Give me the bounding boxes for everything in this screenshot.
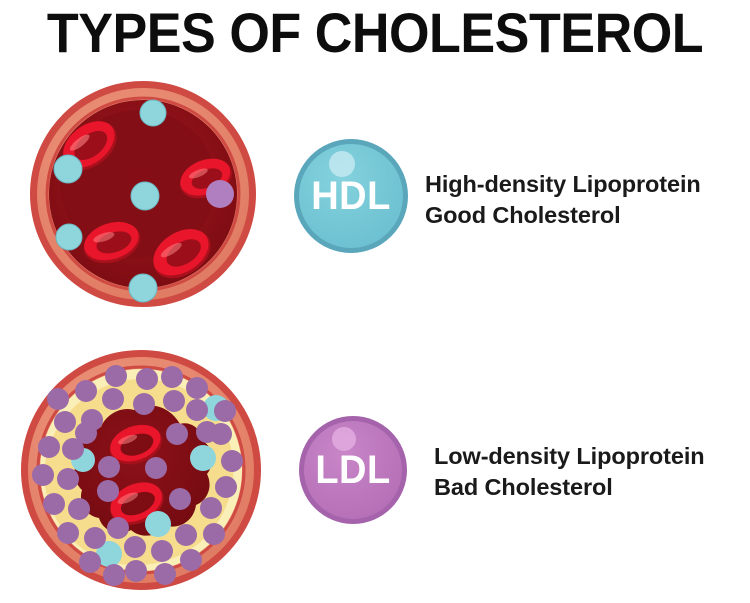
ldl-particle [145, 457, 167, 479]
ldl-particle [166, 423, 188, 445]
ldl-particle [125, 560, 147, 582]
ldl-particle [136, 368, 158, 390]
ldl-particle [54, 411, 76, 433]
hdl-particle [56, 224, 82, 250]
cholesterol-infographic: TYPES OF CHOLESTEROL [0, 0, 750, 603]
ldl-particle [200, 497, 222, 519]
ldl-particle [206, 180, 234, 208]
hdl-particle [54, 155, 82, 183]
ldl-badge-highlight [332, 427, 356, 451]
healthy-artery-cross-section [14, 80, 272, 310]
hdl-badge-highlight [329, 151, 355, 177]
ldl-particle [203, 523, 225, 545]
ldl-particle [161, 366, 183, 388]
hdl-legend-text: High-density Lipoprotein Good Cholestero… [425, 169, 701, 231]
hdl-legend-line-2: Good Cholesterol [425, 200, 701, 231]
hdl-particle [131, 182, 159, 210]
hdl-legend-line-1: High-density Lipoprotein [425, 169, 701, 200]
ldl-particle [43, 493, 65, 515]
ldl-particle [57, 468, 79, 490]
ldl-particle [68, 498, 90, 520]
ldl-particle [169, 488, 191, 510]
ldl-particle [75, 380, 97, 402]
ldl-particle [57, 522, 79, 544]
ldl-particle [215, 476, 237, 498]
ldl-particle [186, 377, 208, 399]
ldl-particle [221, 450, 243, 472]
ldl-particle [154, 563, 176, 585]
page-title: TYPES OF CHOLESTEROL [26, 4, 724, 62]
ldl-particle [79, 551, 101, 573]
ldl-particle [163, 390, 185, 412]
ldl-particle [103, 564, 125, 586]
ldl-legend-text: Low-density Lipoprotein Bad Cholesterol [434, 441, 705, 503]
ldl-particle [180, 549, 202, 571]
ldl-particle [196, 421, 218, 443]
hdl-particle [145, 511, 171, 537]
ldl-particle [81, 409, 103, 431]
ldl-particle [62, 438, 84, 460]
ldl-particle [47, 388, 69, 410]
hdl-particle [190, 445, 216, 471]
hdl-particle [129, 274, 157, 302]
hdl-badge: HDL [292, 137, 410, 255]
ldl-particle [186, 399, 208, 421]
ldl-particle [84, 527, 106, 549]
ldl-particle [38, 436, 60, 458]
ldl-particle [102, 388, 124, 410]
hdl-particle [140, 100, 166, 126]
ldl-legend-line-2: Bad Cholesterol [434, 472, 705, 503]
ldl-particle [107, 517, 129, 539]
ldl-particle [124, 536, 146, 558]
ldl-particle [133, 393, 155, 415]
ldl-particle [175, 524, 197, 546]
clogged-artery-cross-section [10, 348, 272, 596]
ldl-particle [151, 540, 173, 562]
ldl-particle [32, 464, 54, 486]
ldl-particle [214, 400, 236, 422]
ldl-particle [98, 456, 120, 478]
ldl-particle [97, 480, 119, 502]
ldl-particle [105, 365, 127, 387]
ldl-legend-line-1: Low-density Lipoprotein [434, 441, 705, 472]
ldl-badge: LDL [297, 414, 409, 526]
